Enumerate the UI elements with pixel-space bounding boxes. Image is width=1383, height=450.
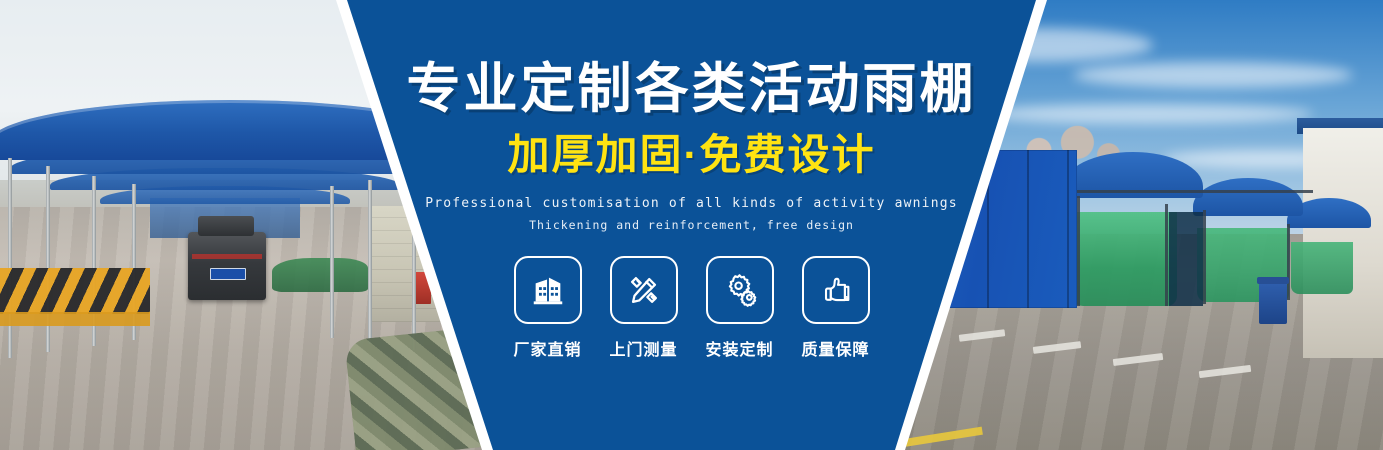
left-photo-truck-cab	[198, 216, 254, 236]
headline: 专业定制各类活动雨棚	[407, 62, 977, 116]
right-photo-steel-frame	[1165, 204, 1168, 306]
feature-icon-frame	[514, 256, 582, 324]
left-photo-safety-barrier	[0, 268, 150, 314]
right-photo-green-netting-1	[1069, 212, 1177, 306]
right-photo-blue-wheelie-bin	[1259, 282, 1287, 324]
feature-icon-frame	[706, 256, 774, 324]
right-photo-steel-frame	[1287, 224, 1290, 300]
feature-list: 厂家直销 上门测量	[512, 256, 872, 360]
english-tagline-secondary: Thickening and reinforcement, free desig…	[529, 218, 854, 232]
left-photo-post	[330, 186, 334, 338]
right-photo-steel-frame	[1203, 210, 1206, 304]
right-photo-green-netting-3	[1291, 242, 1353, 294]
gears-icon	[721, 271, 759, 309]
feature-label: 厂家直销	[513, 336, 581, 360]
feature-item-installation-custom[interactable]: 安装定制	[704, 256, 776, 360]
right-photo-canopy-opening	[1169, 212, 1203, 306]
english-tagline-primary: Professional customisation of all kinds …	[425, 196, 958, 211]
left-photo-post	[8, 158, 12, 358]
feature-item-onsite-measurement[interactable]: 上门测量	[608, 256, 680, 360]
left-photo-safety-barrier-base	[0, 312, 150, 326]
promo-banner: 专业定制各类活动雨棚 加厚加固·免费设计 Professional custom…	[0, 0, 1383, 450]
right-photo-steel-frame	[1077, 196, 1080, 306]
subheadline: 加厚加固·免费设计	[508, 134, 876, 176]
feature-label: 安装定制	[705, 336, 773, 360]
feature-label: 质量保障	[801, 336, 869, 360]
right-photo-steel-frame	[1063, 190, 1313, 193]
thumbs-up-icon	[817, 271, 855, 309]
feature-icon-frame	[610, 256, 678, 324]
left-photo-truck-taillight-bar	[192, 254, 262, 259]
feature-item-factory-direct[interactable]: 厂家直销	[512, 256, 584, 360]
pencil-ruler-icon	[625, 271, 663, 309]
banner-content: 专业定制各类活动雨棚 加厚加固·免费设计 Professional custom…	[347, 0, 1036, 450]
feature-label: 上门测量	[609, 336, 677, 360]
left-photo-truck-licence-plate	[210, 268, 246, 280]
right-photo-cloud	[1073, 62, 1353, 88]
feature-icon-frame	[802, 256, 870, 324]
building-icon	[529, 271, 567, 309]
left-photo-truck	[188, 232, 266, 300]
feature-item-quality-guarantee[interactable]: 质量保障	[800, 256, 872, 360]
